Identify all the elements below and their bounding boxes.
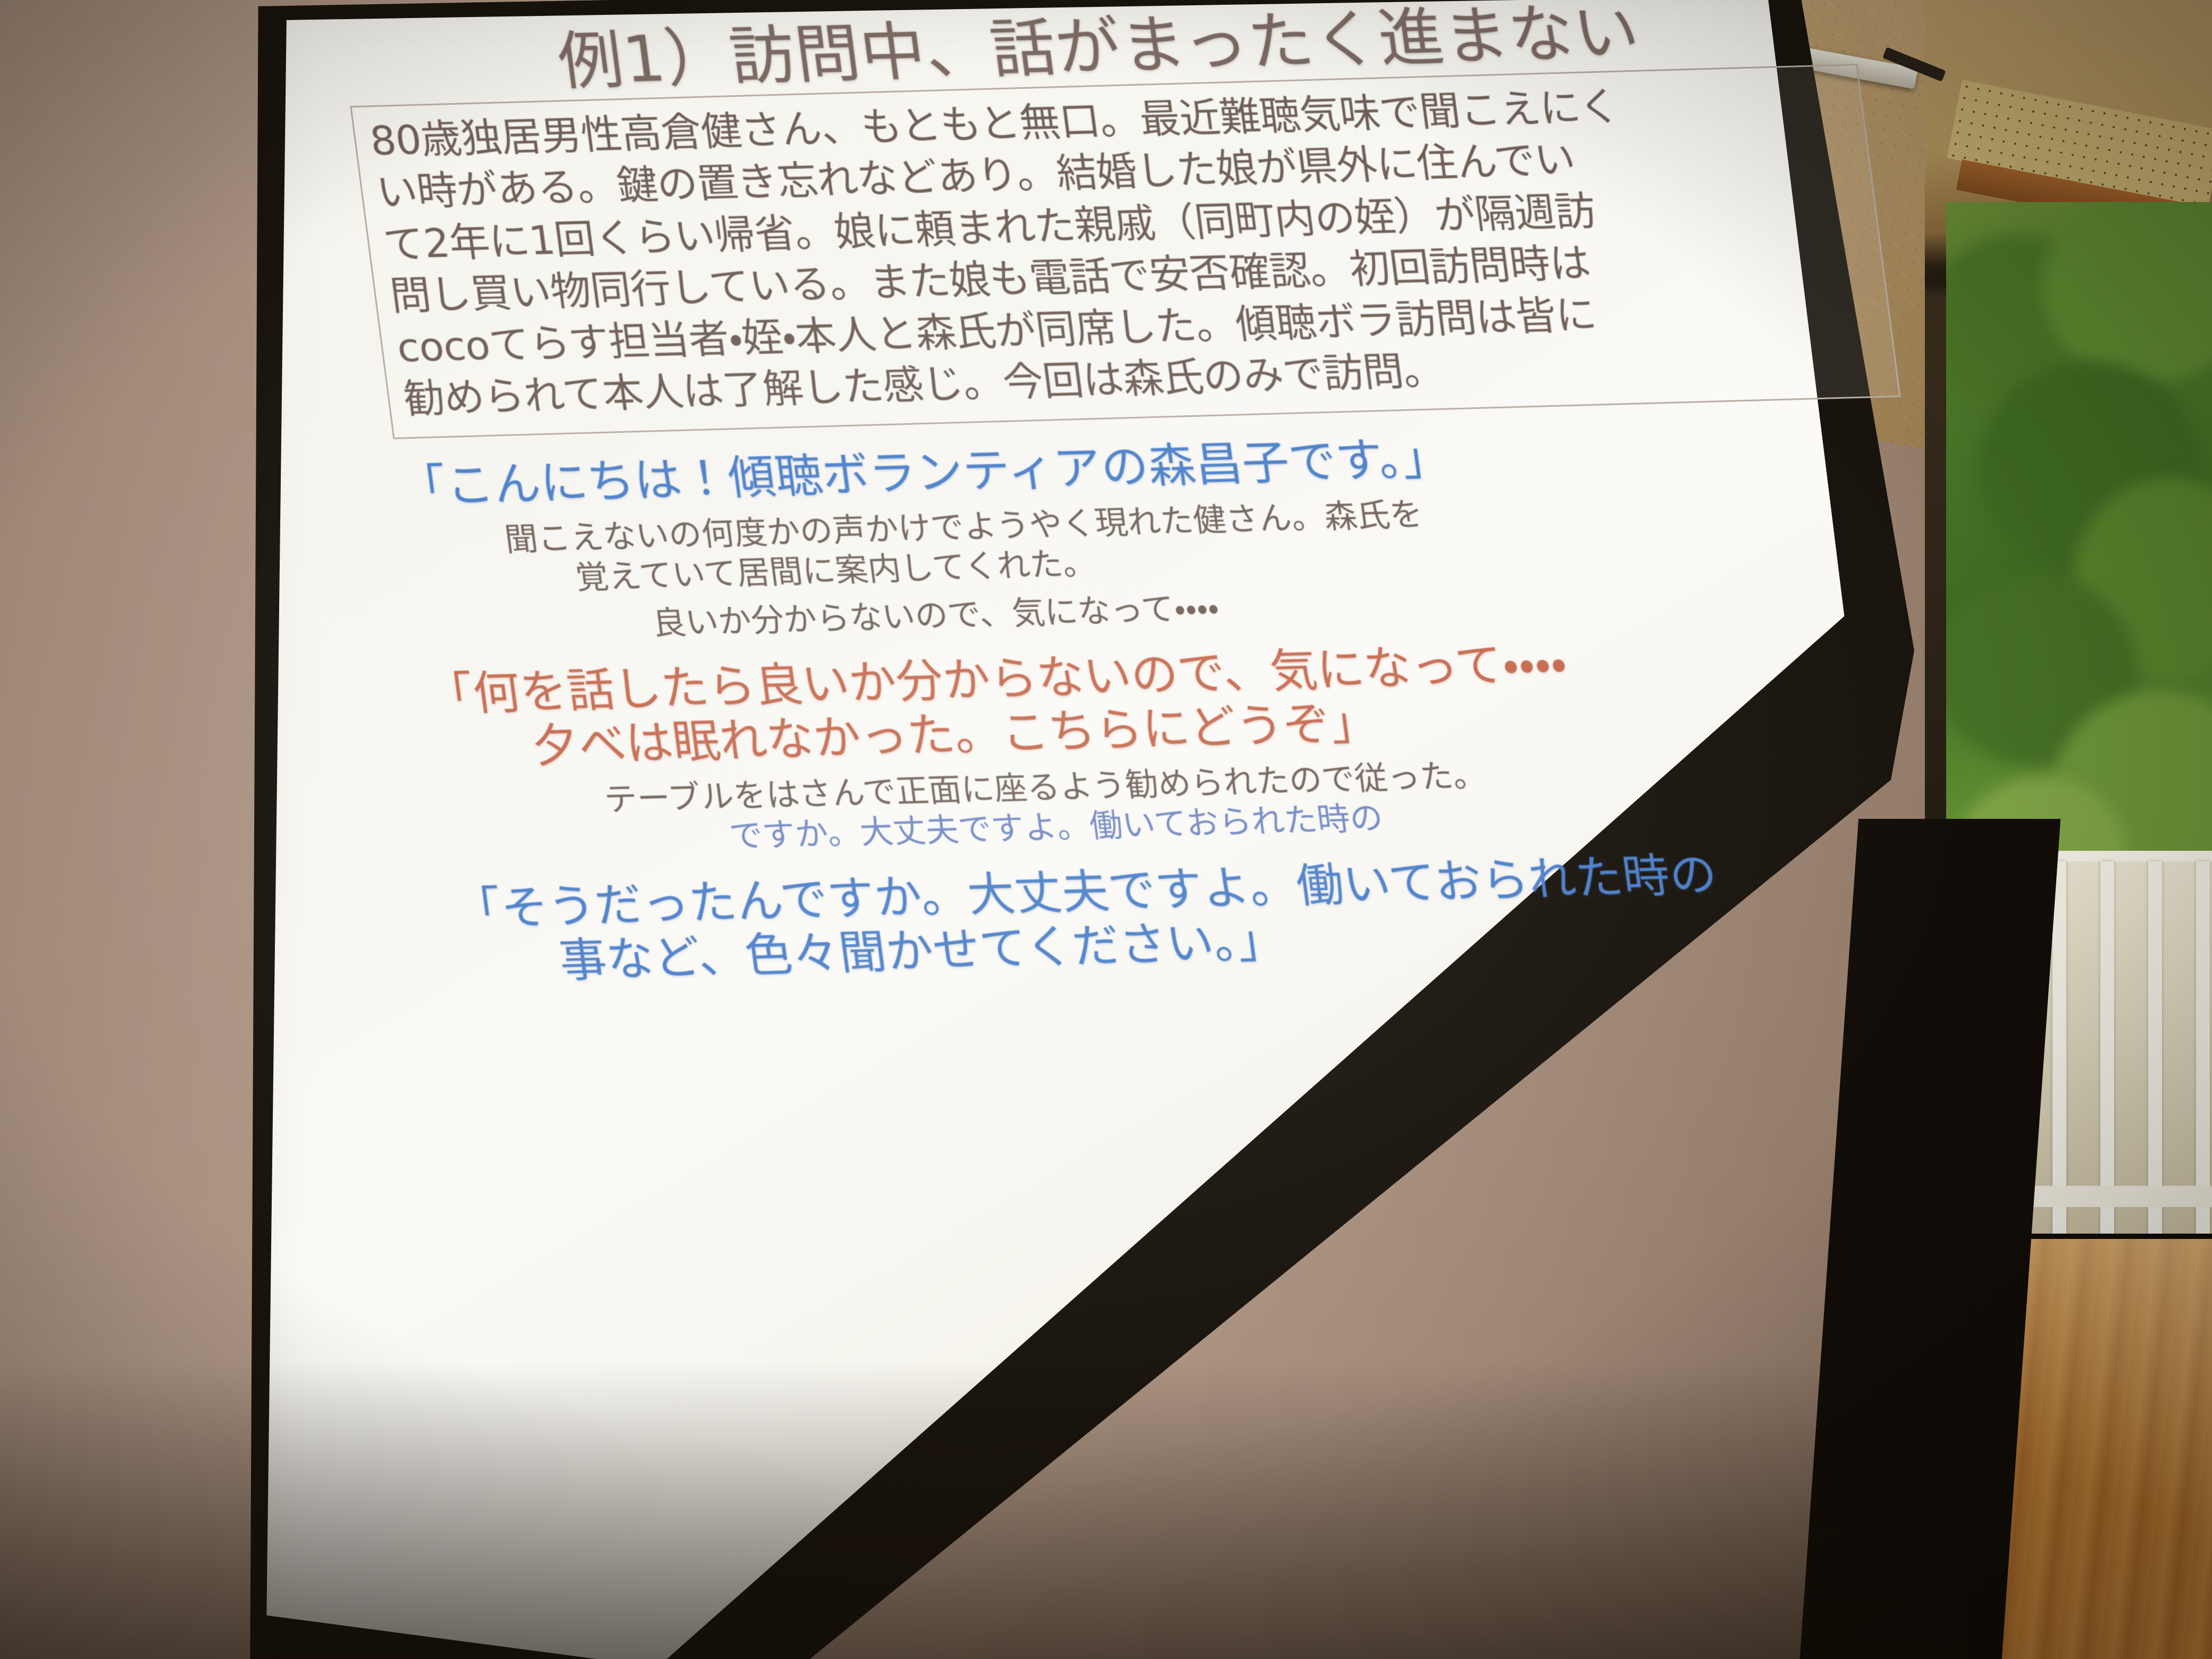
case-description-box: 80歳独居男性高倉健さん、もともと無口。最近難聴気味で聞こえにく い時がある。鍵… [350, 64, 1901, 439]
dialogue-section: 「こんにちは！傾聴ボランティアの森昌子です。」 聞こえないの何度かの声かけでよう… [396, 418, 1973, 992]
slide-content: 例1）訪問中、話がまったく進まない 80歳独居男性高倉健さん、もともと無口。最近… [340, 0, 2040, 1513]
projection-screen-assembly: 例1）訪問中、話がまったく進まない 80歳独居男性高倉健さん、もともと無口。最近… [0, 0, 2212, 1659]
photo-scene: 例1）訪問中、話がまったく進まない 80歳独居男性高倉健さん、もともと無口。最近… [0, 0, 2212, 1659]
